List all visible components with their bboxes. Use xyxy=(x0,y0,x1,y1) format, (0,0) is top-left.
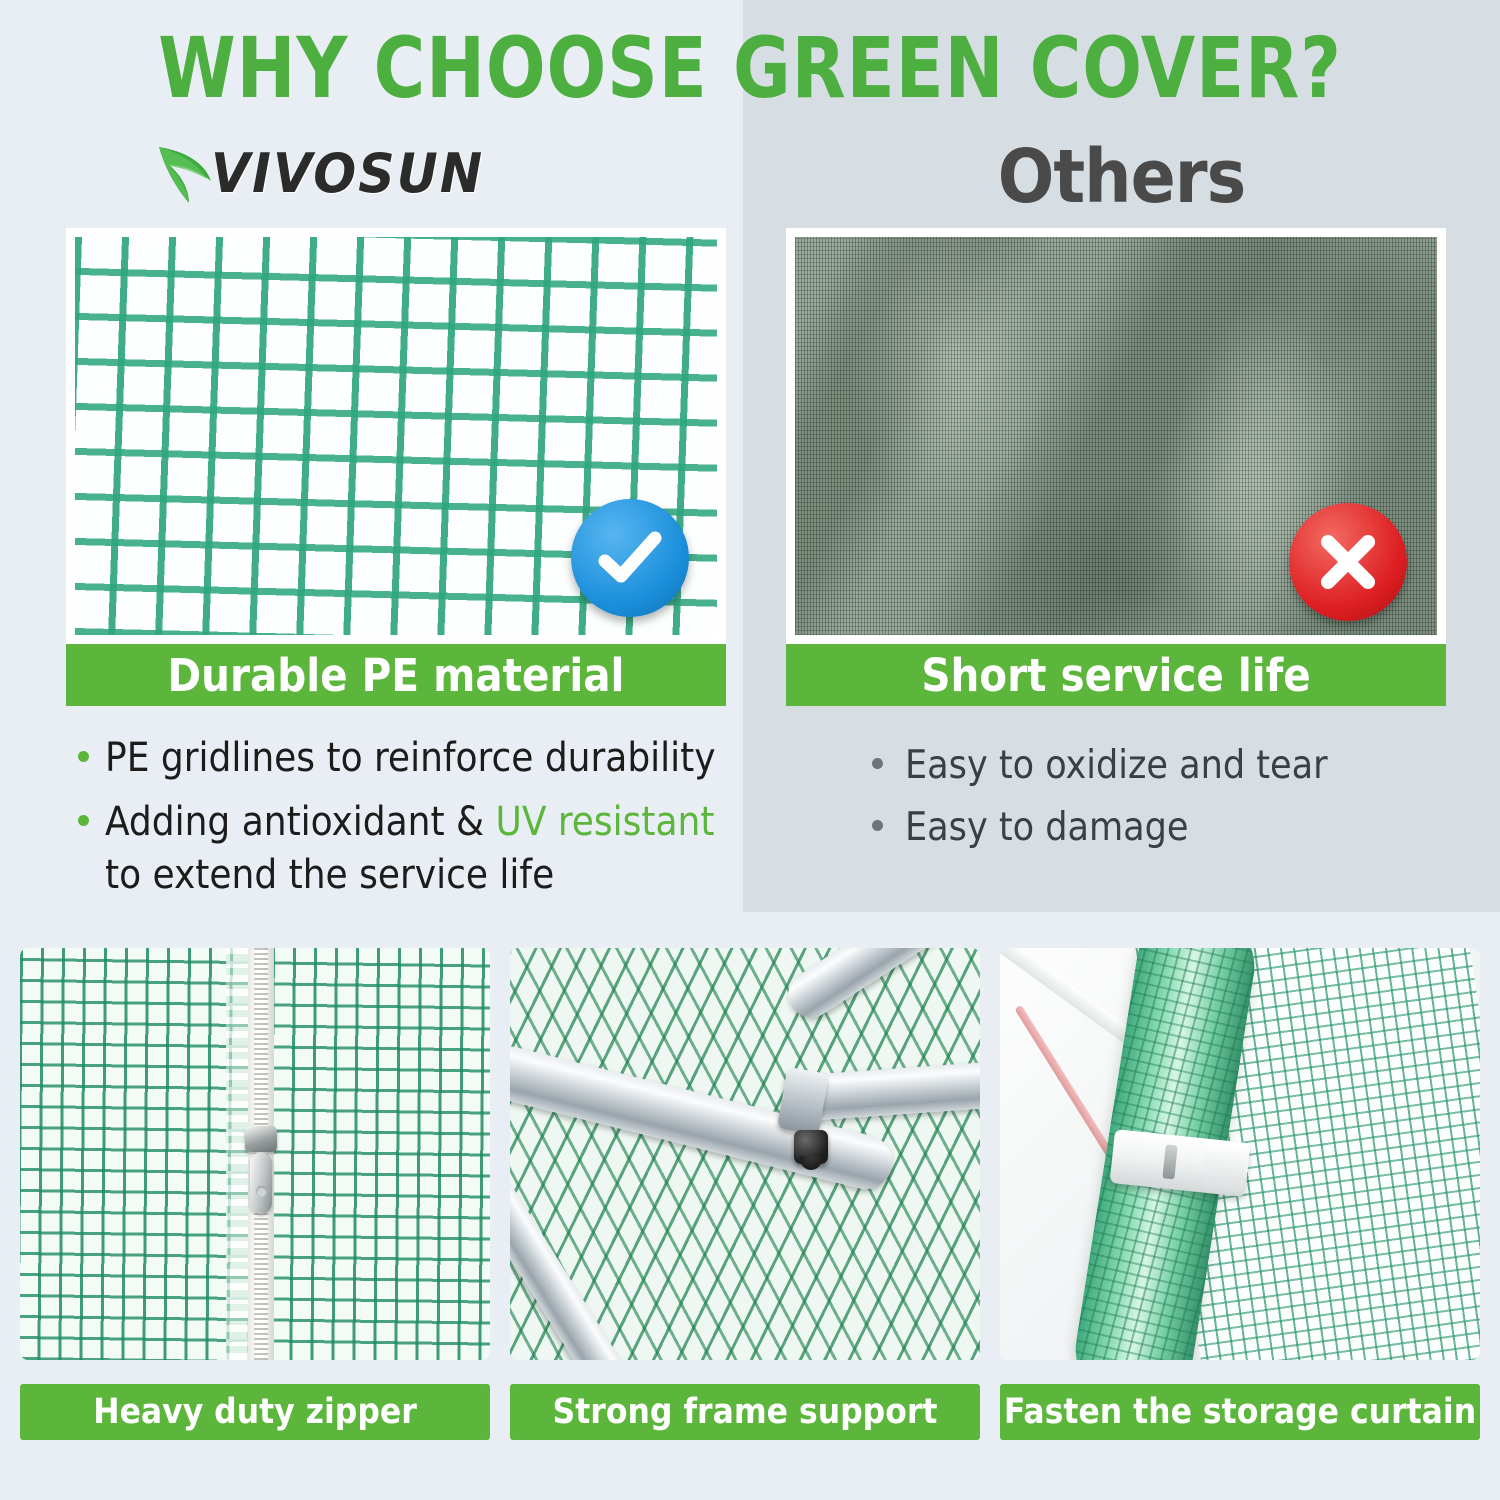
bullet-dot-icon xyxy=(78,815,89,826)
list-item: Easy to oxidize and tear xyxy=(872,740,1432,792)
zipper-tab-hole xyxy=(256,1186,267,1197)
benefit-highlight-uv: UV resistant xyxy=(495,799,714,845)
benefit-text-2-tail: to extend the service life xyxy=(105,852,554,898)
infographic-root: WHY CHOOSE GREEN COVER? VIVOSUN Others D… xyxy=(0,0,1500,1500)
gallery-caption-zipper: Heavy duty zipper xyxy=(20,1384,490,1440)
product-photo-tarp xyxy=(795,237,1437,635)
black-knob-icon xyxy=(794,1130,828,1164)
comparison-card-others: Short service life xyxy=(786,228,1446,706)
gallery-caption-frame: Strong frame support xyxy=(510,1384,980,1440)
caption-durable-pe: Durable PE material xyxy=(66,644,726,706)
brand-logo: VIVOSUN xyxy=(155,137,474,209)
x-circle-icon xyxy=(1289,503,1407,621)
check-circle-icon xyxy=(571,499,689,617)
competitor-heading: Others xyxy=(743,134,1500,220)
comparison-card-vivosun: Durable PE material xyxy=(66,228,726,706)
zipper-tape xyxy=(226,948,250,1360)
product-photo-pe-mesh xyxy=(75,237,717,635)
caption-short-service-life: Short service life xyxy=(786,644,1446,706)
bullet-dot-icon xyxy=(872,758,883,769)
benefit-text-1: PE gridlines to reinforce durability xyxy=(105,732,738,786)
drawback-text-2: Easy to damage xyxy=(905,802,1432,854)
zipper-pull-icon xyxy=(245,1126,277,1152)
gallery-caption-curtain: Fasten the storage curtain xyxy=(1000,1384,1480,1440)
benefit-text-2-lead: Adding antioxidant & xyxy=(105,799,495,845)
list-item: Easy to damage xyxy=(872,802,1432,854)
bullet-dot-icon xyxy=(872,820,883,831)
benefit-text-2: Adding antioxidant & UV resistantto exte… xyxy=(105,796,738,903)
drawbacks-list-others: Easy to oxidize and tear Easy to damage xyxy=(872,740,1432,865)
leaf-icon xyxy=(155,141,217,205)
drawback-text-1: Easy to oxidize and tear xyxy=(905,740,1432,792)
bullet-dot-icon xyxy=(78,751,89,762)
gallery-photo-curtain xyxy=(1000,948,1480,1360)
brand-name: VIVOSUN xyxy=(211,142,484,205)
gallery-photo-frame xyxy=(510,948,980,1360)
benefits-list-vivosun: PE gridlines to reinforce durability Add… xyxy=(78,732,738,913)
zipper-tab-icon xyxy=(250,1152,272,1214)
list-item: Adding antioxidant & UV resistantto exte… xyxy=(78,796,738,903)
list-item: PE gridlines to reinforce durability xyxy=(78,732,738,786)
gallery-photo-zipper xyxy=(20,948,490,1360)
page-title: WHY CHOOSE GREEN COVER? xyxy=(53,26,1448,110)
